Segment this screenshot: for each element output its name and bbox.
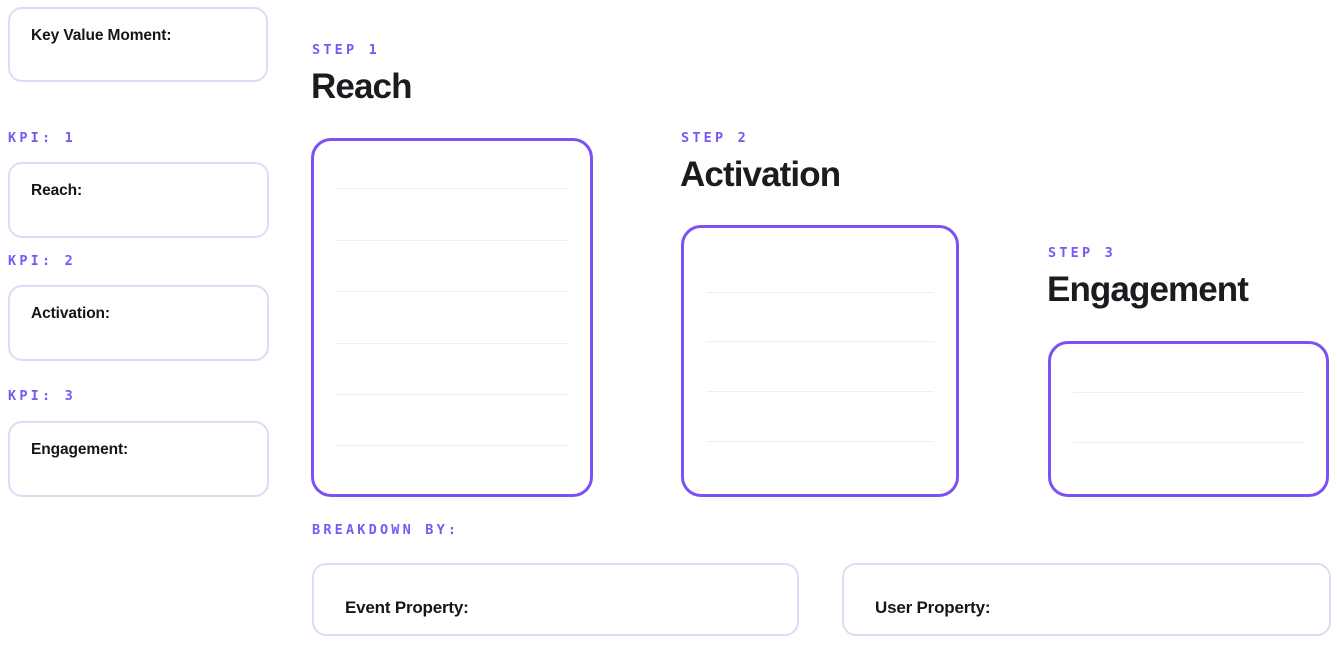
kpi-3-label: Engagement: xyxy=(31,441,128,459)
note-rule-line xyxy=(706,391,934,392)
event-property-box[interactable]: Event Property: xyxy=(312,563,799,636)
step-2-label: STEP 2 xyxy=(681,132,749,146)
kpi-3-index-label: KPI: 3 xyxy=(8,390,76,404)
note-rule-line xyxy=(1073,392,1304,393)
kpi-3-box[interactable]: Engagement: xyxy=(8,421,269,497)
kpi-1-label: Reach: xyxy=(31,182,82,200)
step-2-title: Activation xyxy=(680,157,840,192)
note-rule-line xyxy=(1073,442,1304,443)
kpi-2-index-label: KPI: 2 xyxy=(8,255,76,269)
kpi-1-index-label: KPI: 1 xyxy=(8,132,76,146)
note-rule-line xyxy=(706,292,934,293)
note-rule-line xyxy=(336,188,568,189)
kpi-1-box[interactable]: Reach: xyxy=(8,162,269,238)
note-rule-line xyxy=(706,441,934,442)
note-rule-line xyxy=(336,343,568,344)
event-property-label: Event Property: xyxy=(345,598,469,618)
step-2-note-card[interactable] xyxy=(681,225,959,497)
key-value-moment-label: Key Value Moment: xyxy=(31,27,171,45)
note-rule-line xyxy=(706,341,934,342)
user-property-box[interactable]: User Property: xyxy=(842,563,1331,636)
step-3-title: Engagement xyxy=(1047,272,1248,307)
kpi-2-label: Activation: xyxy=(31,305,110,323)
step-3-label: STEP 3 xyxy=(1048,247,1116,261)
step-1-label: STEP 1 xyxy=(312,44,380,58)
note-rule-line xyxy=(336,394,568,395)
step-1-title: Reach xyxy=(311,69,412,104)
note-rule-line xyxy=(336,291,568,292)
key-value-moment-box[interactable]: Key Value Moment: xyxy=(8,7,268,82)
note-rule-line xyxy=(336,240,568,241)
breakdown-by-label: BREAKDOWN BY: xyxy=(312,524,459,538)
step-1-note-card[interactable] xyxy=(311,138,593,497)
user-property-label: User Property: xyxy=(875,598,990,618)
step-3-note-card[interactable] xyxy=(1048,341,1329,497)
kpi-2-box[interactable]: Activation: xyxy=(8,285,269,361)
note-rule-line xyxy=(336,445,568,446)
